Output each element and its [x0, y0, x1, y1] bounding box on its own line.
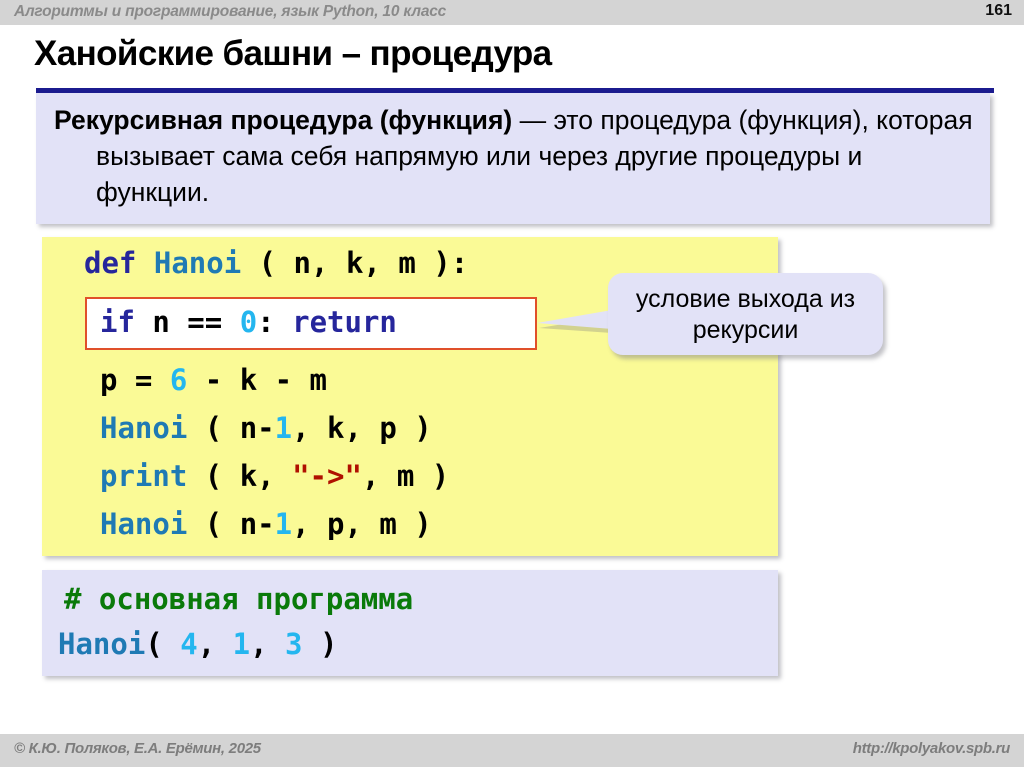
keyword-def: def	[84, 246, 136, 280]
definition-box: Рекурсивная процедура (функция) — это пр…	[36, 93, 990, 224]
print-args-suffix: , m )	[362, 459, 449, 493]
assign-rhs: - k - m	[187, 363, 327, 397]
space-4	[222, 305, 239, 339]
condition-var: n ==	[152, 305, 222, 339]
callout-text: условие выхода из рекурсии	[608, 284, 883, 346]
code-line-if: if n == 0: return	[100, 305, 397, 339]
function-name-hanoi: Hanoi	[100, 411, 187, 445]
call-open-paren: (	[145, 627, 180, 661]
code-line-hanoi-entry: Hanoi( 4, 1, 3 )	[58, 627, 337, 661]
function-name-hanoi: Hanoi	[154, 246, 241, 280]
header-subject-label: Алгоритмы и программирование, язык Pytho…	[14, 3, 446, 21]
space-3	[135, 305, 152, 339]
arg-n: 4	[180, 627, 197, 661]
callout-line-1: условие выхода из	[608, 284, 883, 315]
code-line-hanoi-call-2: Hanoi ( n-1, p, m )	[100, 507, 432, 541]
definition-text: Рекурсивная процедура (функция) — это пр…	[54, 102, 978, 210]
code-line-hanoi-call-1: Hanoi ( n-1, k, p )	[100, 411, 432, 445]
call-args-prefix: ( n-	[205, 507, 275, 541]
call-args-suffix: , p, m )	[292, 507, 432, 541]
code-line-print: print ( k, "->", m )	[100, 459, 449, 493]
callout-line-2: рекурсии	[608, 315, 883, 346]
colon: :	[257, 305, 274, 339]
code-line-comment: # основная программа	[64, 582, 413, 616]
call-args-prefix: ( n-	[205, 411, 275, 445]
call-args-suffix: , k, p )	[292, 411, 432, 445]
number-one: 1	[275, 411, 292, 445]
number-one: 1	[275, 507, 292, 541]
space-5	[275, 305, 292, 339]
callout-pointer	[537, 310, 612, 329]
code-line-assign-p: p = 6 - k - m	[100, 363, 327, 397]
space-1	[136, 246, 153, 280]
keyword-return: return	[292, 305, 397, 339]
keyword-if: if	[100, 305, 135, 339]
callout-bubble: условие выхода из рекурсии	[608, 273, 883, 355]
assign-lhs: p =	[100, 363, 170, 397]
arg-from: 1	[233, 627, 250, 661]
page-number: 161	[985, 2, 1012, 20]
code-line-def: def Hanoi ( n, k, m ):	[84, 246, 468, 280]
function-name-hanoi: Hanoi	[100, 507, 187, 541]
print-args-prefix: ( k,	[205, 459, 292, 493]
space-7	[187, 459, 204, 493]
call-close-paren: )	[302, 627, 337, 661]
space-8	[187, 507, 204, 541]
number-zero: 0	[240, 305, 257, 339]
function-name-hanoi: Hanoi	[58, 627, 145, 661]
number-six: 6	[170, 363, 187, 397]
footer-copyright: © К.Ю. Поляков, Е.А. Ерёмин, 2025	[14, 740, 261, 757]
space-2	[241, 246, 258, 280]
string-literal-arrow: "->"	[292, 459, 362, 493]
def-args: ( n, k, m ):	[259, 246, 469, 280]
arg-sep-2: ,	[250, 627, 285, 661]
page-title: Ханойские башни – процедура	[34, 34, 552, 74]
arg-to: 3	[285, 627, 302, 661]
definition-term: Рекурсивная процедура (функция)	[54, 105, 512, 135]
space-6	[187, 411, 204, 445]
footer-url-link[interactable]: http://kpolyakov.spb.ru	[853, 740, 1010, 757]
arg-sep-1: ,	[198, 627, 233, 661]
function-name-print: print	[100, 459, 187, 493]
